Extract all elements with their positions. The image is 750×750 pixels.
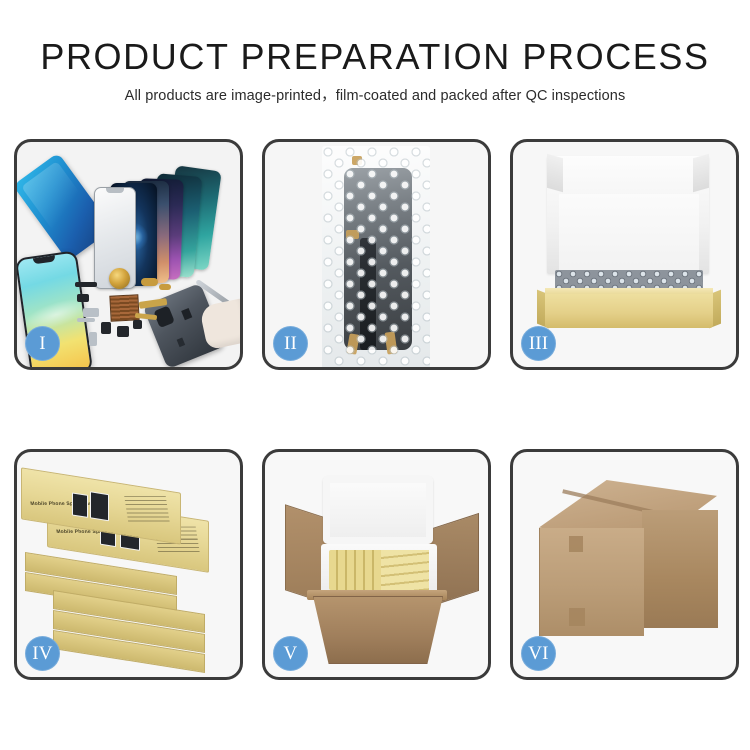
- step-badge-5: V: [273, 636, 308, 671]
- process-step-panel-5[interactable]: V: [262, 449, 491, 680]
- carton-flap-tab-top: [569, 536, 583, 552]
- step-badge-4: IV: [25, 636, 60, 671]
- step-badge-3: III: [521, 326, 556, 361]
- mailer-box-front: [545, 294, 713, 328]
- process-step-grid: I II III: [14, 139, 738, 680]
- process-step-panel-2[interactable]: II: [262, 139, 491, 370]
- small-part-ic-3: [133, 320, 142, 329]
- small-part-module: [77, 294, 89, 302]
- step-badge-2: II: [273, 326, 308, 361]
- step-badge-6: VI: [521, 636, 556, 671]
- page-title: PRODUCT PREPARATION PROCESS: [0, 38, 750, 76]
- bubble-wrap-bag: [322, 146, 430, 367]
- small-part-ic-2: [117, 326, 129, 337]
- small-part-bracket: [77, 318, 95, 322]
- foam-box-lid: [323, 476, 433, 544]
- carton-front-panel: [313, 596, 443, 664]
- foam-sheet: [559, 194, 699, 276]
- small-part-gold-1: [141, 278, 158, 286]
- small-part-bar: [75, 282, 97, 287]
- retail-box-product-image-1: [72, 492, 88, 518]
- process-step-panel-1[interactable]: I: [14, 139, 243, 370]
- process-step-panel-4[interactable]: Mobile Phone Spare Parts Mobile Phone Sp…: [14, 449, 243, 680]
- packed-retail-boxes-right: [381, 550, 429, 590]
- carton-flap-tab-bottom: [569, 608, 585, 626]
- shipping-carton-side-panel: [642, 510, 718, 628]
- page-header: PRODUCT PREPARATION PROCESS All products…: [0, 0, 750, 105]
- retail-box-product-image-2: [90, 491, 109, 521]
- small-part-ic-1: [101, 322, 111, 334]
- retail-box-spec-lines-1: [124, 496, 170, 522]
- process-step-panel-6[interactable]: VI: [510, 449, 739, 680]
- shipping-carton-front-panel: [539, 528, 644, 636]
- step-badge-1: I: [25, 326, 60, 361]
- bubble-texture: [322, 146, 430, 367]
- page-subtitle: All products are image-printed，film-coat…: [0, 87, 750, 105]
- process-step-panel-3[interactable]: III: [510, 139, 739, 370]
- small-part-sim-tray: [89, 332, 97, 346]
- speaker-coil-part: [109, 268, 130, 289]
- small-part-gold-2: [159, 284, 171, 290]
- small-part-connector: [83, 308, 99, 317]
